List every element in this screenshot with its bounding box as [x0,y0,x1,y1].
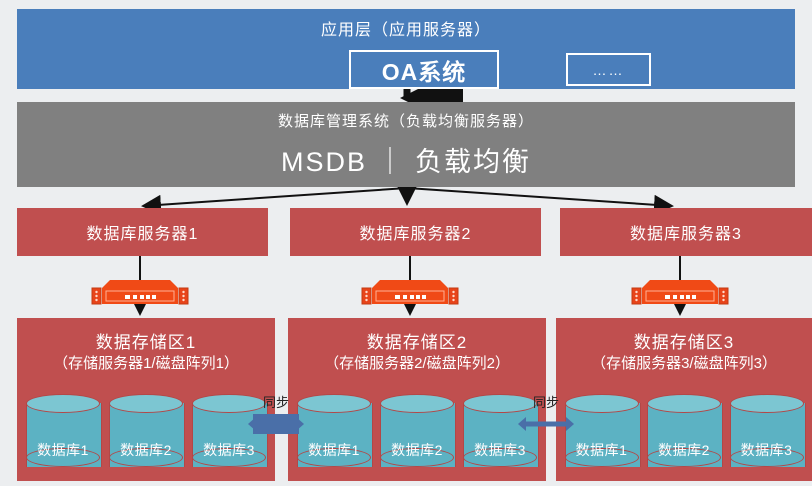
cylinder-top [730,394,804,413]
server-rack-icon-3 [628,278,732,308]
db-server-box-2[interactable]: 数据库服务器2 [290,208,541,256]
cylinder-top [380,394,454,413]
server-rack-icon-2 [358,278,462,308]
dbms-subtitle: MSDB ｜ 负载均衡 [17,140,795,179]
database-cylinder[interactable]: 数据库2 [109,394,183,474]
storage-area-subtitle-2: （存储服务器2/磁盘阵列2） [288,352,546,373]
database-label: 数据库2 [109,440,183,460]
cylinder-top [109,394,183,413]
application-layer-band: 应用层（应用服务器） OA系统 …… [17,9,795,89]
architecture-diagram: 应用层（应用服务器） OA系统 …… 数据库管理系统（负载均衡服务器） MSDB… [0,0,812,486]
cylinder-top [297,394,371,413]
database-cylinder[interactable]: 数据库1 [297,394,371,474]
oa-system-box[interactable]: OA系统 [349,50,499,89]
database-label: 数据库2 [647,440,721,460]
sync-arrow-icon [246,414,306,434]
cylinder-top [26,394,100,413]
storage-area-subtitle-3: （存储服务器3/磁盘阵列3） [556,352,812,373]
sync-arrow-icon [516,414,576,434]
dbms-band: 数据库管理系统（负载均衡服务器） MSDB ｜ 负载均衡 [17,102,795,187]
storage-area-box-2[interactable]: 数据存储区2 （存储服务器2/磁盘阵列2） 数据库1 数据库2 数据库3 [288,318,546,481]
database-label: 数据库3 [192,440,266,460]
storage-area-box-3[interactable]: 数据存储区3 （存储服务器3/磁盘阵列3） 数据库1 数据库2 数据库3 [556,318,812,481]
database-label: 数据库1 [26,440,100,460]
database-cylinder[interactable]: 数据库2 [380,394,454,474]
sync-label: 同步 [246,392,306,411]
database-cylinder-group-3: 数据库1 数据库2 数据库3 [556,394,812,476]
wire-dbms-to-servers [143,188,672,206]
more-systems-box[interactable]: …… [566,53,651,86]
sync-link-2: 同步 [516,396,576,442]
database-cylinder-group-1: 数据库1 数据库2 数据库3 [17,394,275,476]
cylinder-top [647,394,721,413]
database-cylinder[interactable]: 数据库2 [647,394,721,474]
storage-area-title-3: 数据存储区3 [556,328,812,353]
database-label: 数据库1 [565,440,639,460]
storage-area-box-1[interactable]: 数据存储区1 （存储服务器1/磁盘阵列1） 数据库1 数据库2 数据库3 [17,318,275,481]
storage-area-title-1: 数据存储区1 [17,328,275,353]
database-label: 数据库3 [730,440,804,460]
dbms-title: 数据库管理系统（负载均衡服务器） [17,110,795,131]
database-label: 数据库3 [463,440,537,460]
database-cylinder[interactable]: 数据库1 [26,394,100,474]
server-rack-icon-1 [88,278,192,308]
sync-label: 同步 [516,392,576,411]
storage-area-subtitle-1: （存储服务器1/磁盘阵列1） [17,352,275,373]
sync-link-1: 同步 [246,396,306,442]
database-label: 数据库1 [297,440,371,460]
database-cylinder-group-2: 数据库1 数据库2 数据库3 [288,394,546,476]
database-cylinder[interactable]: 数据库3 [730,394,804,474]
db-server-box-3[interactable]: 数据库服务器3 [560,208,812,256]
db-server-box-1[interactable]: 数据库服务器1 [17,208,268,256]
storage-area-title-2: 数据存储区2 [288,328,546,353]
database-label: 数据库2 [380,440,454,460]
application-layer-title: 应用层（应用服务器） [17,16,795,40]
